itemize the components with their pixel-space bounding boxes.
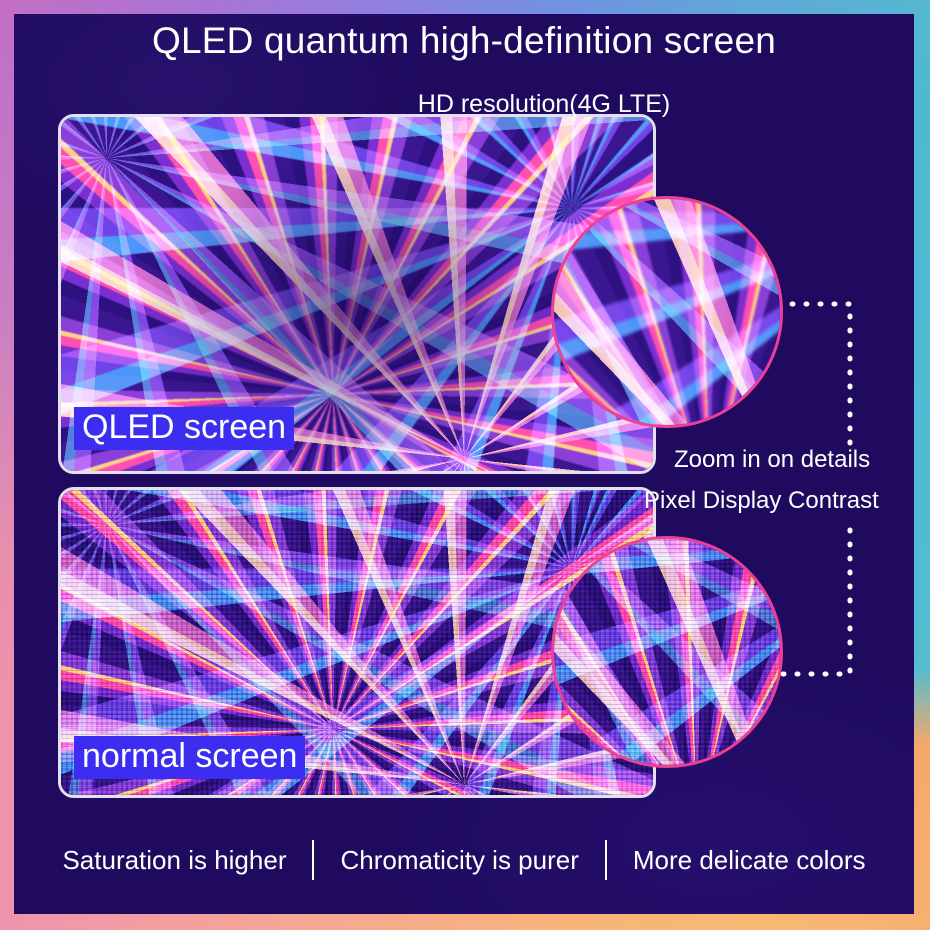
annotation-pixel-display-contrast: Pixel Display Contrast: [644, 487, 879, 515]
border-bottom: [0, 914, 930, 930]
feature-item-chromaticity: Chromaticity is purer: [314, 845, 604, 876]
feature-strip: Saturation is higher Chromaticity is pur…: [14, 840, 914, 880]
label-normal-screen: normal screen: [74, 736, 305, 779]
feature-item-saturation: Saturation is higher: [36, 845, 312, 876]
annotation-zoom-in-on-details: Zoom in on details: [674, 446, 870, 474]
border-top: [0, 0, 930, 14]
feature-item-delicate-colors: More delicate colors: [607, 845, 892, 876]
border-right: [914, 0, 930, 930]
page-subtitle: HD resolution(4G LTE): [14, 90, 914, 119]
label-qled-screen: QLED screen: [74, 407, 294, 450]
border-left: [0, 0, 14, 930]
product-banner: QLED quantum high-definition screen HD r…: [0, 0, 930, 930]
magnifier-circle-qled: [551, 196, 783, 428]
banner-stage: QLED quantum high-definition screen HD r…: [14, 14, 914, 914]
magnifier-circle-normal: [551, 536, 783, 768]
page-title: QLED quantum high-definition screen: [14, 20, 914, 62]
